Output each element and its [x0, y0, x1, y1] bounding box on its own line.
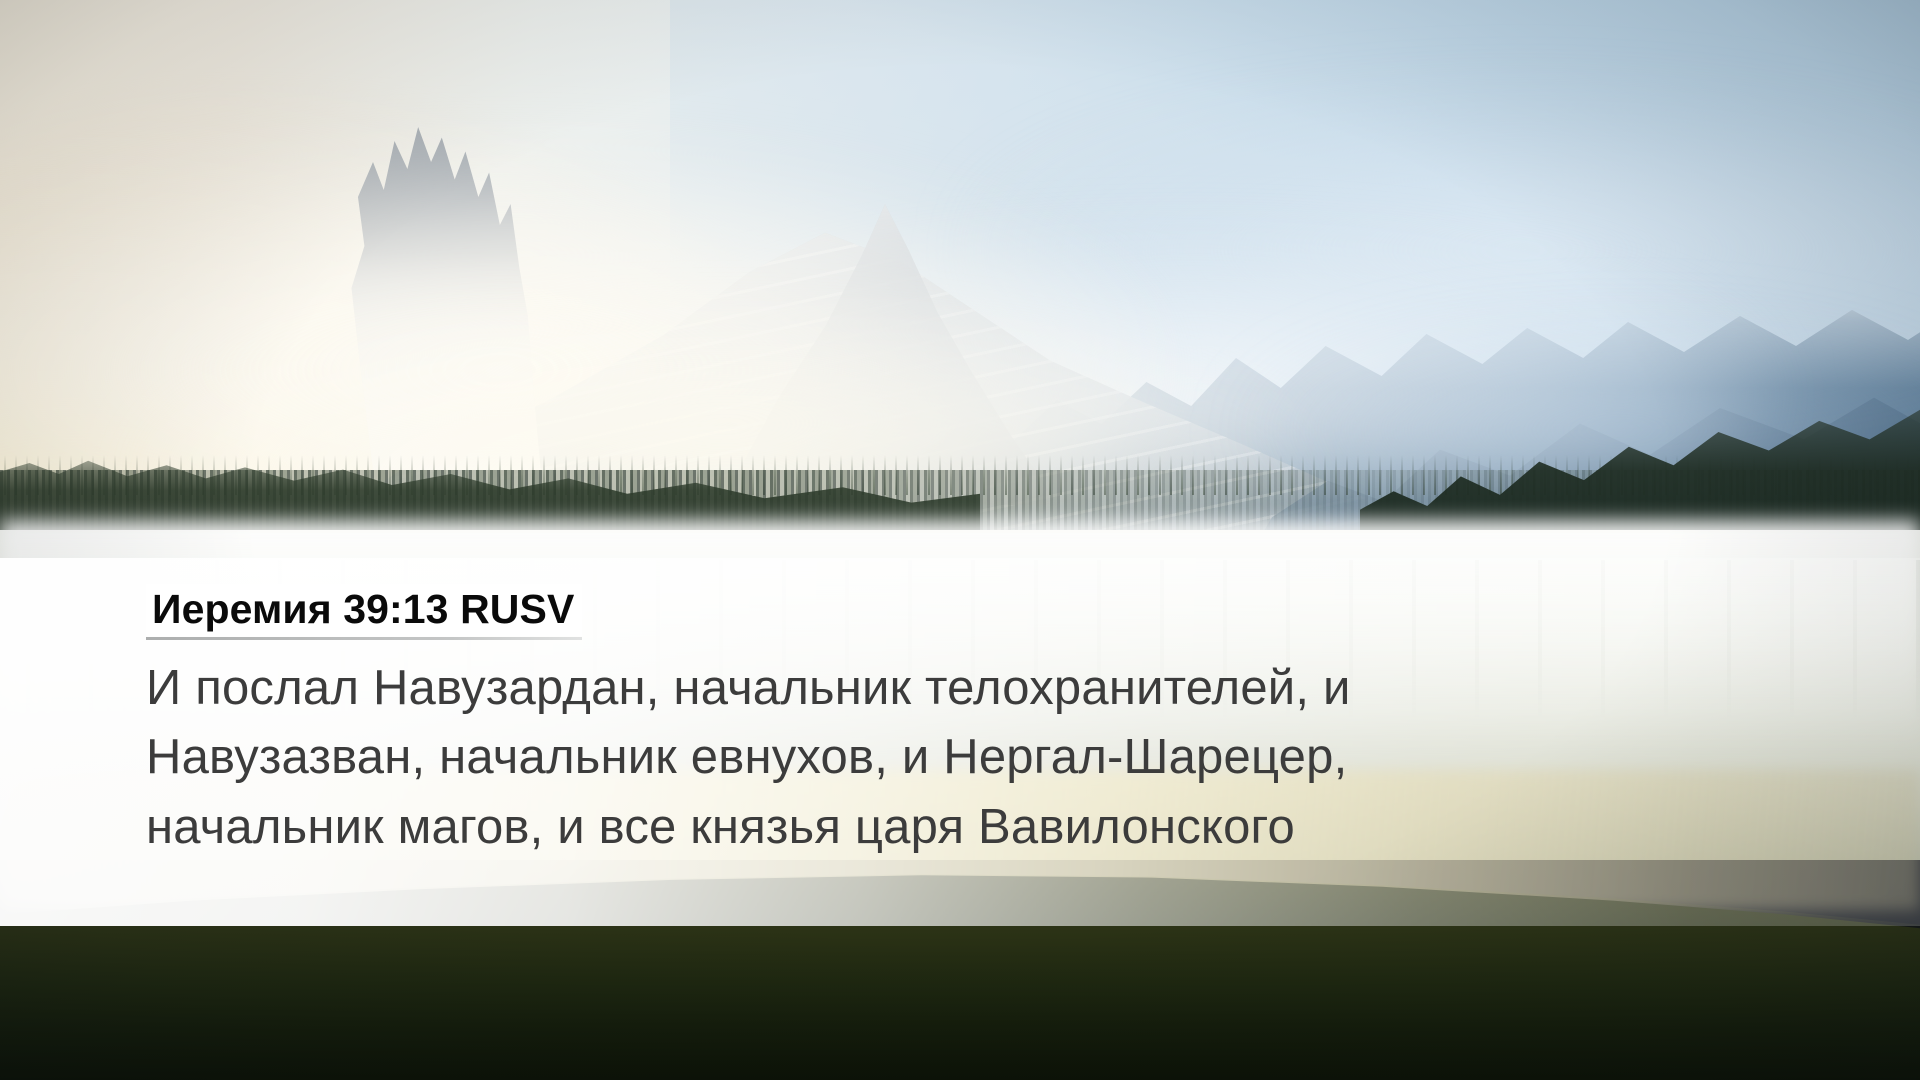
verse-text: И послал Навузардан, начальник телохрани…	[146, 654, 1846, 863]
verse-line-3: начальник магов, и все князья царя Вавил…	[146, 793, 1846, 863]
reference-underline-rule	[146, 637, 582, 640]
verse-card: Иеремия 39:13 RUSV И послал Навузардан, …	[0, 0, 1920, 1080]
verse-reference-wrap: Иеремия 39:13 RUSV	[146, 584, 582, 640]
verse-line-2: Навузазван, начальник евнухов, и Нергал-…	[146, 723, 1846, 793]
verse-block: Иеремия 39:13 RUSV И послал Навузардан, …	[0, 558, 1920, 926]
verse-reference: Иеремия 39:13 RUSV	[146, 584, 582, 636]
verse-line-1: И послал Навузардан, начальник телохрани…	[146, 654, 1846, 724]
